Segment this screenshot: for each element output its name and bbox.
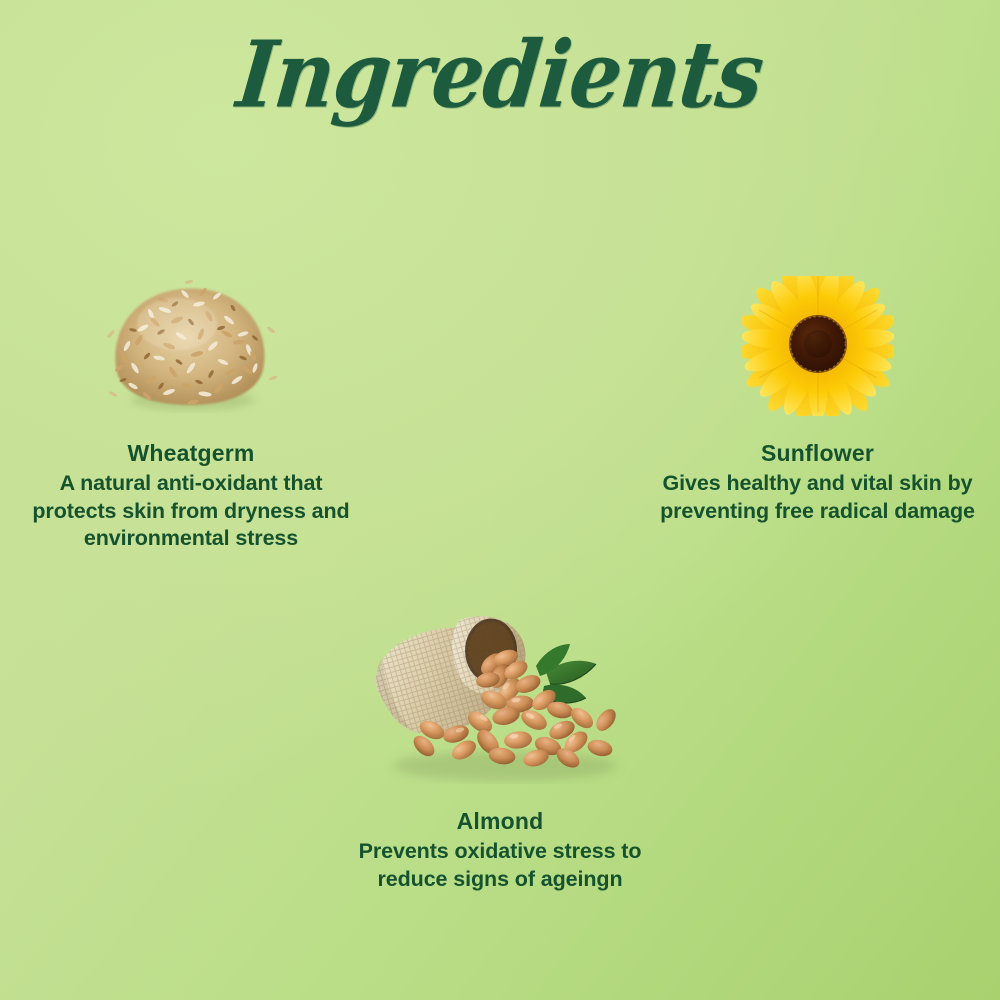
- sunflower-flower-image: [742, 276, 894, 416]
- wheatgerm-pile-image: [103, 276, 279, 416]
- ingredient-description-line: environmental stress: [0, 525, 382, 553]
- page-title-container: Ingredients: [0, 34, 1000, 116]
- ingredient-description-wheatgerm: A natural anti-oxidant that protects ski…: [0, 470, 382, 553]
- ingredient-name-sunflower: Sunflower: [635, 440, 1000, 467]
- ingredient-description-line: Gives healthy and vital skin by: [635, 470, 1000, 498]
- page-title: Ingredients: [233, 29, 767, 121]
- ingredients-poster: Ingredients: [0, 0, 1000, 1000]
- ingredient-card-sunflower: Sunflower Gives healthy and vital skin b…: [635, 276, 1000, 525]
- ingredient-description-line: preventing free radical damage: [635, 498, 1000, 526]
- almond-sack-image: [360, 608, 640, 788]
- ingredient-name-almond: Almond: [318, 808, 682, 835]
- ingredient-card-almond: Almond Prevents oxidative stress to redu…: [318, 608, 682, 893]
- ingredient-name-wheatgerm: Wheatgerm: [0, 440, 382, 467]
- ingredient-description-line: A natural anti-oxidant that: [0, 470, 382, 498]
- ingredient-description-line: Prevents oxidative stress to: [318, 838, 682, 866]
- ingredient-description-sunflower: Gives healthy and vital skin by preventi…: [635, 470, 1000, 525]
- ingredient-description-almond: Prevents oxidative stress to reduce sign…: [318, 838, 682, 893]
- ingredient-card-wheatgerm: Wheatgerm A natural anti-oxidant that pr…: [0, 276, 382, 553]
- ingredient-description-line: reduce signs of ageingn: [318, 866, 682, 894]
- ingredient-description-line: protects skin from dryness and: [0, 498, 382, 526]
